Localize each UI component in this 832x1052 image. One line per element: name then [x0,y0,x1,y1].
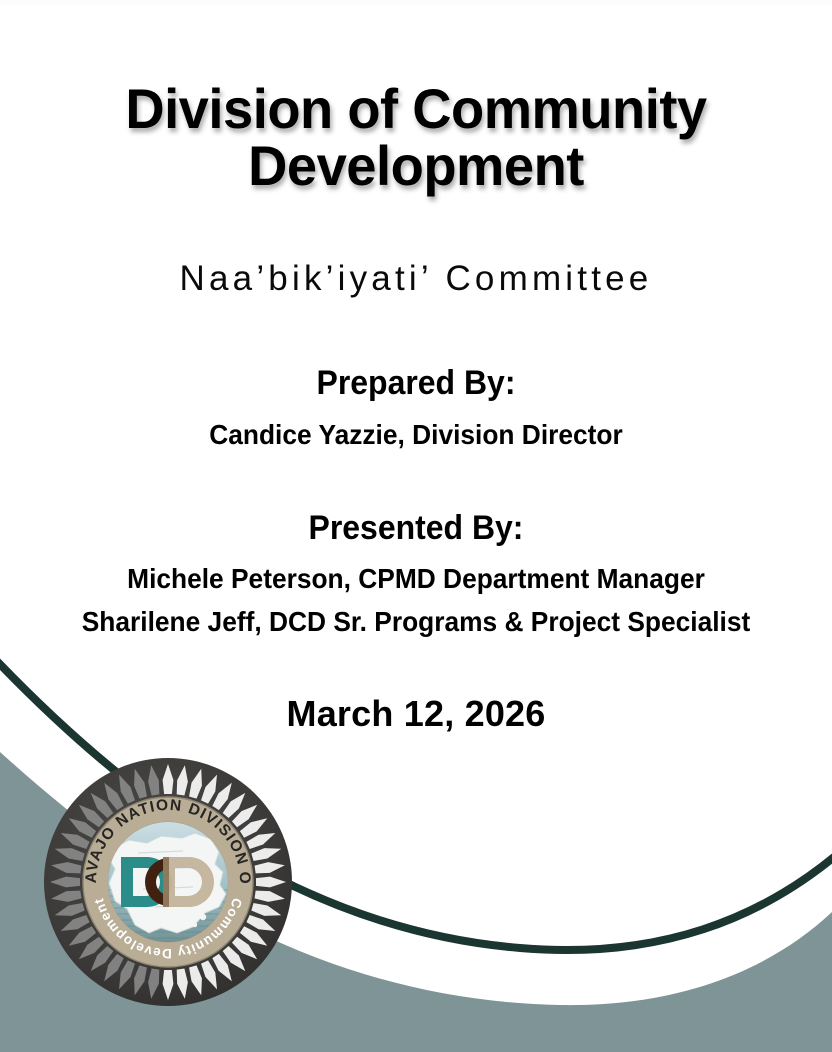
prepared-by-heading: Prepared By: [68,365,764,402]
prepared-by-person: Candice Yazzie, Division Director [49,418,782,451]
monogram-overlap [163,857,169,907]
navajo-nation-dcd-seal-logo: NAVAJO NATION DIVISION OF Community Deve… [43,757,293,1007]
slide-subtitle: Naa’bik’iyati’ Committee [46,258,786,300]
title-slide: Division of Community Development Naa’bi… [0,0,832,1052]
presented-by-heading: Presented By: [68,510,764,547]
presented-by-person: Michele Peterson, CPMD Department Manage… [49,562,782,595]
presented-by-person: Sharilene Jeff, DCD Sr. Programs & Proje… [49,605,782,638]
page-title: Division of Community Development [57,80,775,194]
top-edge-band [0,0,832,6]
presentation-date: March 12, 2026 [46,693,786,735]
